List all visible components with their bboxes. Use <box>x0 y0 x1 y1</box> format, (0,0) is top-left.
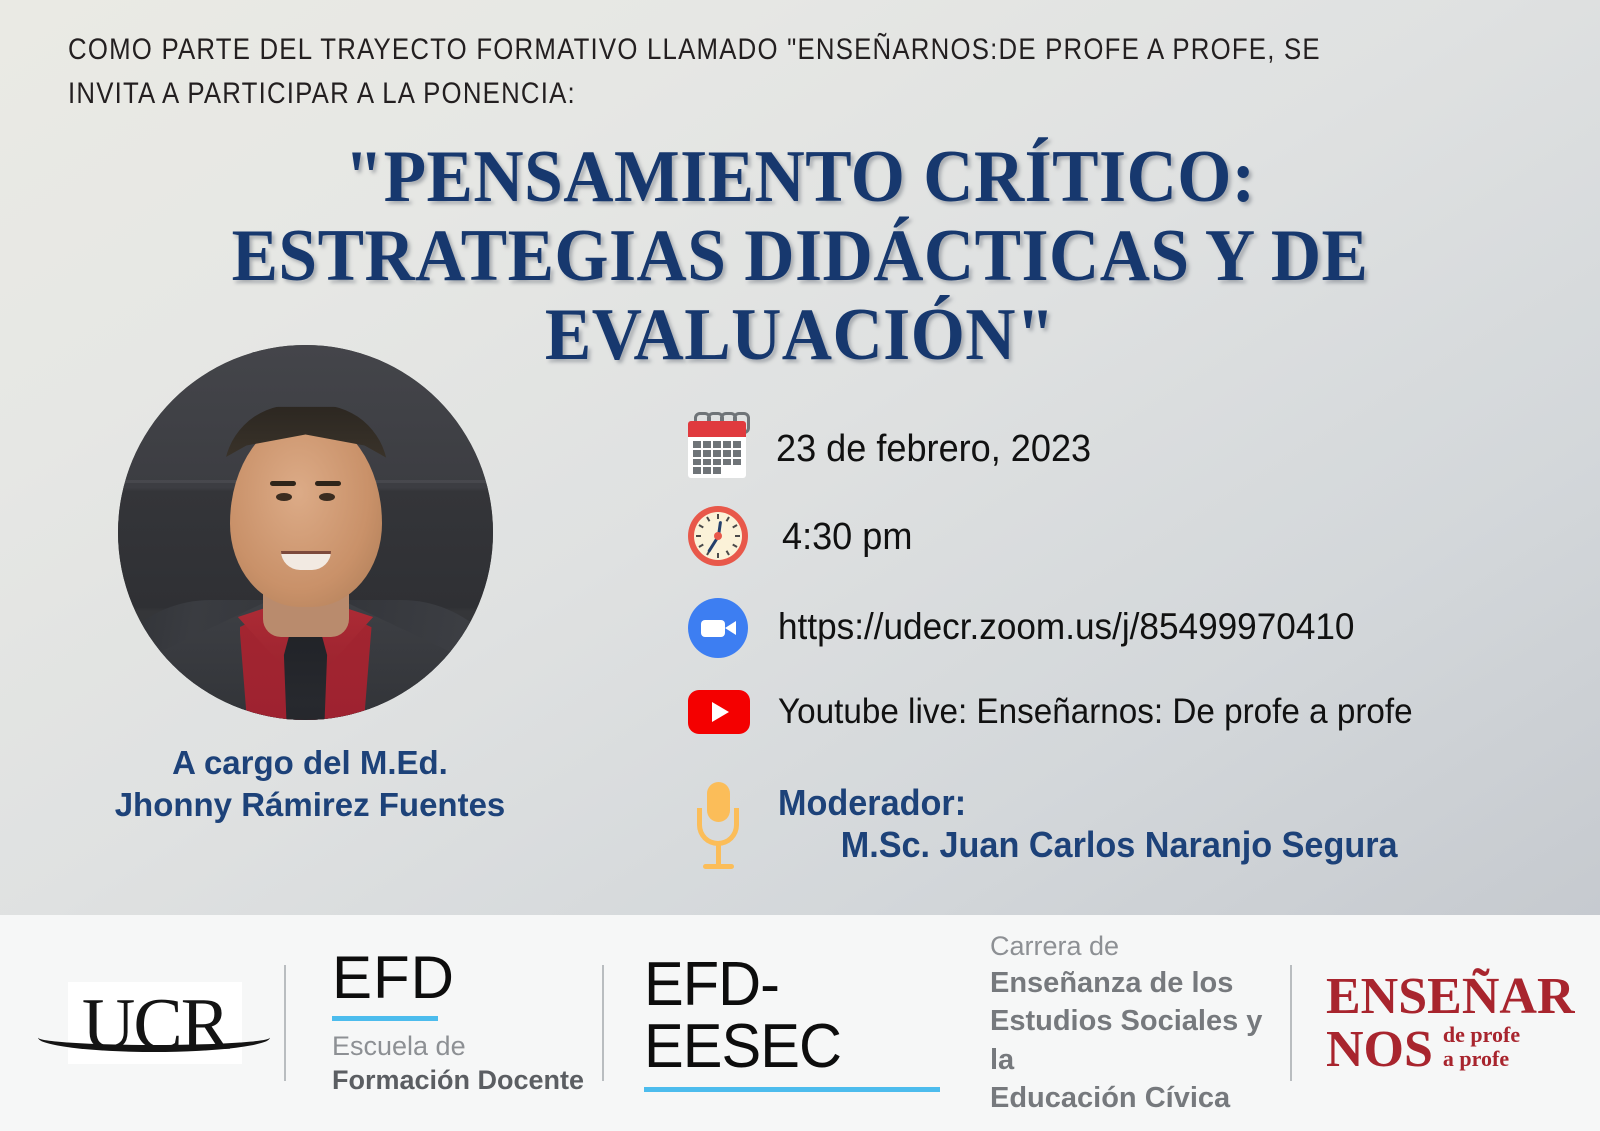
carrera-line-1: Carrera de <box>990 929 1290 964</box>
efd-line-2: Formación Docente <box>332 1064 602 1098</box>
logo-carrera: Carrera de Enseñanza de los Estudios Soc… <box>990 929 1290 1117</box>
speaker-role: A cargo del M.Ed. <box>40 742 580 784</box>
speaker-photo <box>118 345 493 720</box>
detail-row-zoom[interactable]: https://udecr.zoom.us/j/85499970410 <box>686 596 1516 688</box>
detail-row-moderator: Moderador: M.Sc. Juan Carlos Naranjo Seg… <box>686 780 1516 890</box>
logo-efd: EFD Escuela de Formación Docente <box>332 948 602 1098</box>
efd-line-1: Escuela de <box>332 1030 602 1064</box>
microphone-icon <box>686 780 752 876</box>
detail-row-youtube[interactable]: Youtube live: Enseñarnos: De profe a pro… <box>686 688 1516 780</box>
ensenarnos-line-1: ENSEÑAR <box>1326 970 1576 1023</box>
ensenarnos-tag-2: a profe <box>1443 1047 1520 1071</box>
photo-eye-right <box>319 493 335 501</box>
speaker-caption: A cargo del M.Ed. Jhonny Rámirez Fuentes <box>40 742 580 826</box>
moderator-block: Moderador: M.Sc. Juan Carlos Naranjo Seg… <box>778 780 1398 866</box>
logo-ensenarnos: ENSEÑAR NOS de profe a profe <box>1326 970 1576 1077</box>
calendar-icon <box>686 404 752 484</box>
photo-eye-left <box>276 493 292 501</box>
speaker-name: Jhonny Rámirez Fuentes <box>40 784 580 826</box>
zoom-link[interactable]: https://udecr.zoom.us/j/85499970410 <box>778 596 1354 648</box>
date-value: 23 de febrero, 2023 <box>776 404 1091 471</box>
footer-divider-2 <box>602 965 604 1081</box>
detail-row-time: 4:30 pm <box>686 504 1516 596</box>
intro-text: COMO PARTE DEL TRAYECTO FORMATIVO LLAMAD… <box>68 28 1332 115</box>
eesec-rule <box>644 1087 940 1092</box>
moderator-name: M.Sc. Juan Carlos Naranjo Segura <box>778 824 1398 866</box>
event-poster: COMO PARTE DEL TRAYECTO FORMATIVO LLAMAD… <box>0 0 1600 1131</box>
photo-brow-left <box>270 481 296 486</box>
ensenarnos-tag-1: de profe <box>1443 1023 1520 1047</box>
clock-icon <box>686 504 752 570</box>
ensenarnos-tagline: de profe a profe <box>1443 1023 1520 1077</box>
eesec-abbr: EFD-EESEC <box>644 954 944 1078</box>
carrera-line-2: Enseñanza de los <box>990 964 1290 1002</box>
event-details: 23 de febrero, 2023 <box>686 404 1516 890</box>
carrera-line-4: Educación Cívica <box>990 1079 1290 1117</box>
title-line-1: "PENSAMIENTO CRÍTICO: <box>161 138 1439 217</box>
time-value: 4:30 pm <box>782 504 912 559</box>
page-title: "PENSAMIENTO CRÍTICO: ESTRATEGIAS DIDÁCT… <box>161 138 1439 376</box>
footer-divider-3 <box>1290 965 1292 1081</box>
ucr-arc <box>38 1023 270 1052</box>
youtube-icon <box>686 688 752 740</box>
footer-divider-1 <box>284 965 286 1081</box>
efd-abbr: EFD <box>332 948 602 1008</box>
footer-logo-bar: UCR EFD Escuela de Formación Docente EFD… <box>0 915 1600 1131</box>
ensenarnos-line-2: NOS <box>1326 1023 1433 1076</box>
moderator-label: Moderador: <box>778 782 1398 824</box>
carrera-line-3: Estudios Sociales y la <box>990 1002 1290 1079</box>
logo-eesec: EFD-EESEC <box>644 954 956 1092</box>
title-line-2: ESTRATEGIAS DIDÁCTICAS Y DE <box>161 217 1439 296</box>
efd-rule <box>332 1016 438 1021</box>
logo-ucr: UCR <box>26 982 284 1064</box>
zoom-video-icon <box>686 596 752 662</box>
detail-row-date: 23 de febrero, 2023 <box>686 404 1516 504</box>
youtube-value[interactable]: Youtube live: Enseñarnos: De profe a pro… <box>778 688 1413 732</box>
photo-brow-right <box>315 481 341 486</box>
